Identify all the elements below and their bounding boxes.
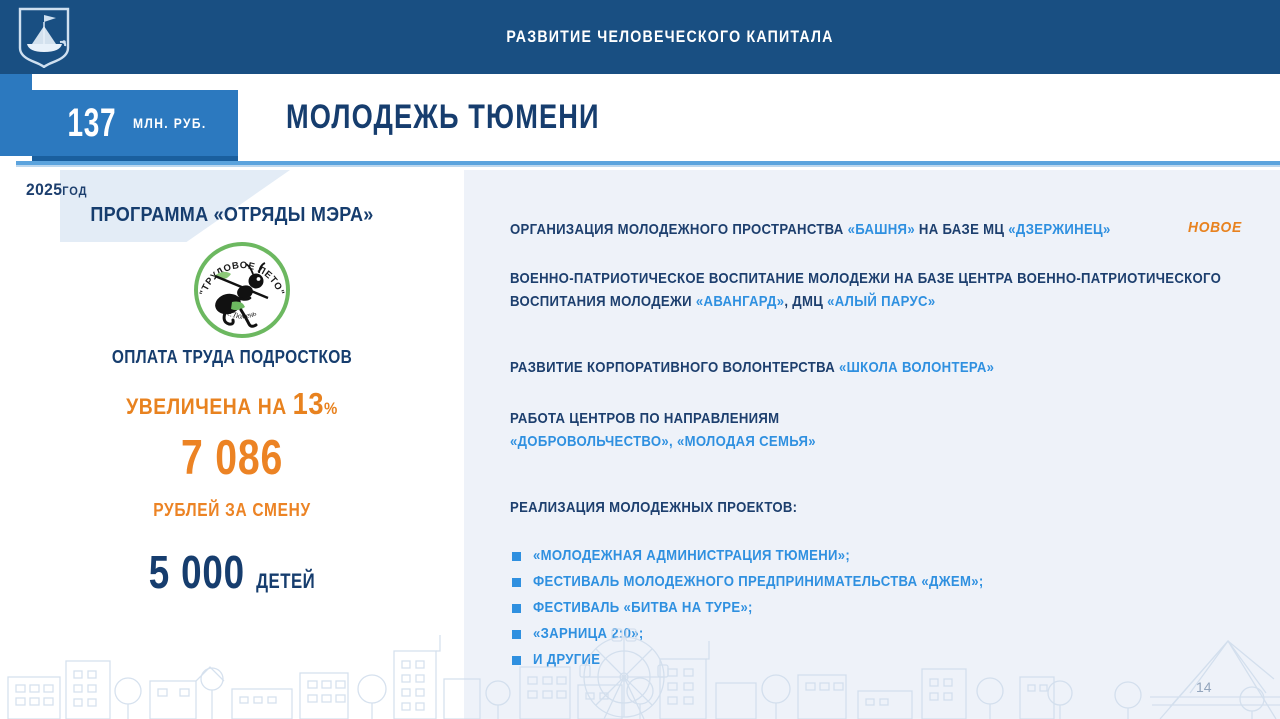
pay-label: ОПЛАТА ТРУДА ПОДРОСТКОВ xyxy=(32,347,431,368)
list-item: И ДРУГИЕ xyxy=(512,647,1034,673)
pay-increase-prefix: УВЕЛИЧЕНА НА xyxy=(126,394,287,419)
slide-title: МОЛОДЕЖЬ ТЮМЕНИ xyxy=(286,98,600,137)
list-item: ФЕСТИВАЛЬ МОЛОДЕЖНОГО ПРЕДПРИНИМАТЕЛЬСТВ… xyxy=(512,569,1034,595)
children-count: 5 000ДЕТЕЙ xyxy=(46,549,417,595)
item3-text-a: РАЗВИТИЕ КОРПОРАТИВНОГО ВОЛОНТЕРСТВА xyxy=(510,360,839,376)
item2-line-1: ВОЕННО-ПАТРИОТИЧЕСКОЕ ВОСПИТАНИЕ МОЛОДЕЖ… xyxy=(510,268,1221,291)
item2-highlight-2: «АЛЫЙ ПАРУС» xyxy=(827,294,935,310)
budget-amount-value: 137 xyxy=(68,103,117,143)
tyumen-coat-of-arms-crest-icon xyxy=(16,6,72,68)
bullet-square-icon xyxy=(512,630,521,639)
pay-increase-line: УВЕЛИЧЕНА НА 13% xyxy=(28,386,436,422)
new-badge: НОВОЕ xyxy=(1188,219,1242,236)
content-item-2: ВОЕННО-ПАТРИОТИЧЕСКОЕ ВОСПИТАНИЕ МОЛОДЕЖ… xyxy=(510,268,1221,314)
projects-bullet-list: «МОЛОДЕЖНАЯ АДМИНИСТРАЦИЯ ТЮМЕНИ»; ФЕСТИ… xyxy=(512,543,1034,673)
content-item-1: ОРГАНИЗАЦИЯ МОЛОДЕЖНОГО ПРОСТРАНСТВА «БА… xyxy=(510,219,1111,242)
band-left-stub xyxy=(0,74,32,156)
item2-highlight-1: «АВАНГАРД» xyxy=(696,294,784,310)
content-item-3: РАЗВИТИЕ КОРПОРАТИВНОГО ВОЛОНТЕРСТВА «ШК… xyxy=(510,357,994,380)
top-header-bar: РАЗВИТИЕ ЧЕЛОВЕЧЕСКОГО КАПИТАЛА xyxy=(0,0,1280,74)
list-item: «МОЛОДЕЖНАЯ АДМИНИСТРАЦИЯ ТЮМЕНИ»; xyxy=(512,543,1034,569)
bullet-square-icon xyxy=(512,552,521,561)
list-item: «ЗАРНИЦА 2:0»; xyxy=(512,621,1034,647)
item2-text-b: , ДМЦ xyxy=(784,294,827,310)
trudovoe-leto-ant-logo-icon: "ТРУДОВОЕ ЛЕТО" г.Тюмень xyxy=(184,236,300,344)
rate-label: РУБЛЕЙ ЗА СМЕНУ xyxy=(32,500,431,521)
item2-line-2: ВОСПИТАНИЯ МОЛОДЕЖИ «АВАНГАРД», ДМЦ «АЛЫ… xyxy=(510,291,1221,314)
rate-value: 7 086 xyxy=(46,434,417,483)
item4-line-1: РАБОТА ЦЕНТРОВ ПО НАПРАВЛЕНИЯМ xyxy=(510,408,816,431)
budget-amount-unit: МЛН. РУБ. xyxy=(133,115,207,131)
header-title: РАЗВИТИЕ ЧЕЛОВЕЧЕСКОГО КАПИТАЛА xyxy=(352,0,988,74)
item4-highlight-line: «ДОБРОВОЛЬЧЕСТВО», «МОЛОДАЯ СЕМЬЯ» xyxy=(510,431,816,454)
year-label: 2025ГОД xyxy=(26,180,87,200)
bullet-square-icon xyxy=(512,578,521,587)
item1-text-b: НА БАЗЕ МЦ xyxy=(915,222,1008,238)
year-value: 2025 xyxy=(26,180,62,199)
band-divider-line-thin xyxy=(16,165,1280,167)
children-label: ДЕТЕЙ xyxy=(256,570,315,593)
content-item-5: РЕАЛИЗАЦИЯ МОЛОДЕЖНЫХ ПРОЕКТОВ: xyxy=(510,497,797,520)
year-unit: ГОД xyxy=(62,184,87,198)
program-title: ПРОГРАММА «ОТРЯДЫ МЭРА» xyxy=(28,203,436,227)
item2-text-a: ВОСПИТАНИЯ МОЛОДЕЖИ xyxy=(510,294,696,310)
pay-increase-value: 13 xyxy=(293,386,324,421)
budget-amount-badge: 137 МЛН. РУБ. xyxy=(32,90,238,156)
bullet-square-icon xyxy=(512,604,521,613)
page-number: 14 xyxy=(1196,679,1212,695)
bullet-label: «ЗАРНИЦА 2:0»; xyxy=(533,626,644,642)
bullet-label: ФЕСТИВАЛЬ «БИТВА НА ТУРЕ»; xyxy=(533,600,753,616)
content-item-4: РАБОТА ЦЕНТРОВ ПО НАПРАВЛЕНИЯМ «ДОБРОВОЛ… xyxy=(510,408,816,454)
list-item: ФЕСТИВАЛЬ «БИТВА НА ТУРЕ»; xyxy=(512,595,1034,621)
pay-increase-unit: % xyxy=(324,399,338,418)
bullet-square-icon xyxy=(512,656,521,665)
bullet-label: И ДРУГИЕ xyxy=(533,652,600,668)
item1-highlight-2: «ДЗЕРЖИНЕЦ» xyxy=(1008,222,1110,238)
bullet-label: ФЕСТИВАЛЬ МОЛОДЕЖНОГО ПРЕДПРИНИМАТЕЛЬСТВ… xyxy=(533,574,984,590)
item1-highlight-1: «БАШНЯ» xyxy=(848,222,915,238)
item3-highlight-1: «ШКОЛА ВОЛОНТЕРА» xyxy=(839,360,994,376)
item1-text-a: ОРГАНИЗАЦИЯ МОЛОДЕЖНОГО ПРОСТРАНСТВА xyxy=(510,222,848,238)
bullet-label: «МОЛОДЕЖНАЯ АДМИНИСТРАЦИЯ ТЮМЕНИ»; xyxy=(533,548,850,564)
children-value: 5 000 xyxy=(149,546,245,598)
